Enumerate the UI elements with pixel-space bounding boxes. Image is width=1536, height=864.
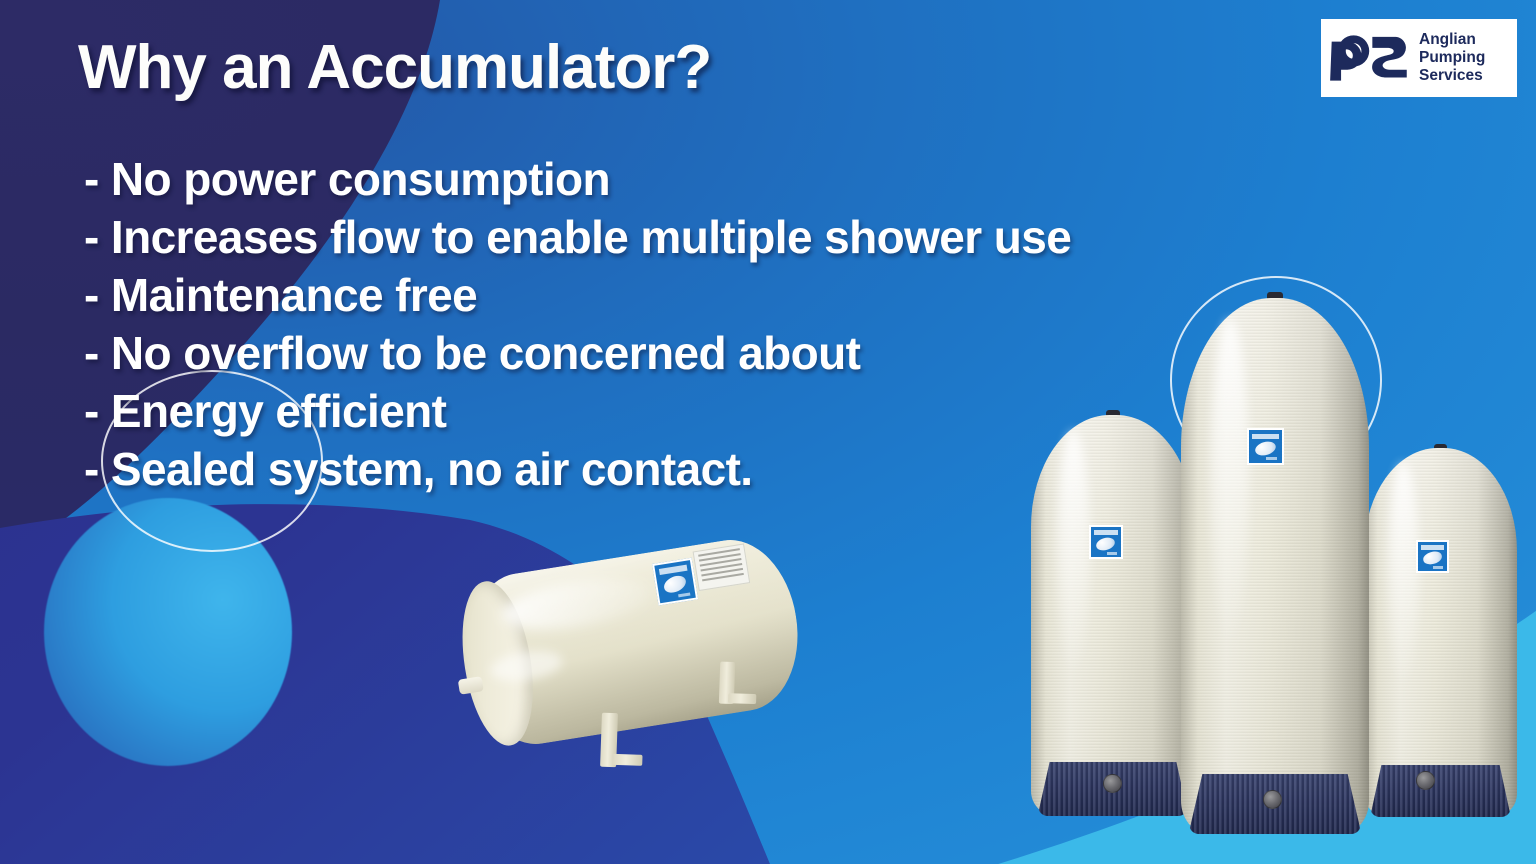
benefits-list: - No power consumption - Increases flow … [84, 150, 1424, 498]
logo-line-2: Pumping [1419, 49, 1485, 67]
horizontal-tank-leg-rear-foot [728, 693, 756, 704]
list-item: - Energy efficient [84, 382, 1424, 440]
tank-center-outlet-port [1263, 790, 1282, 809]
label-globe-icon [1422, 550, 1443, 566]
label-globe-icon [1095, 535, 1117, 552]
tank-right-body [1364, 448, 1517, 816]
aps-monogram-icon [1327, 30, 1413, 86]
accumulator-tank-right [1364, 448, 1517, 816]
list-item: - Maintenance free [84, 266, 1424, 324]
tank-right-product-label [1416, 540, 1449, 573]
label-footer-band [1433, 566, 1443, 569]
slide-canvas: Why an Accumulator? - No power consumpti… [0, 0, 1536, 864]
label-text-band [1094, 530, 1118, 535]
horizontal-tank-spec-sticker [693, 543, 751, 591]
tank-left-outlet-port [1103, 774, 1122, 793]
list-item: - No power consumption [84, 150, 1424, 208]
tank-right-outlet-port [1416, 771, 1435, 790]
company-logo: Anglian Pumping Services [1321, 19, 1517, 97]
label-text-band [659, 565, 688, 575]
logo-line-1: Anglian [1419, 31, 1485, 49]
tank-right-base [1370, 765, 1511, 817]
label-footer-band [1107, 552, 1117, 555]
list-item: - No overflow to be concerned about [84, 324, 1424, 382]
horizontal-tank-product-label [652, 558, 698, 606]
logo-wordmark: Anglian Pumping Services [1419, 31, 1485, 85]
list-item: - Sealed system, no air contact. [84, 440, 1424, 498]
page-title: Why an Accumulator? [78, 32, 711, 103]
horizontal-tank-leg-front-foot [612, 754, 642, 766]
list-item: - Increases flow to enable multiple show… [84, 208, 1424, 266]
tank-left-product-label [1089, 525, 1123, 559]
label-text-band [1421, 545, 1444, 549]
label-footer-band [678, 592, 691, 597]
logo-line-3: Services [1419, 67, 1485, 85]
